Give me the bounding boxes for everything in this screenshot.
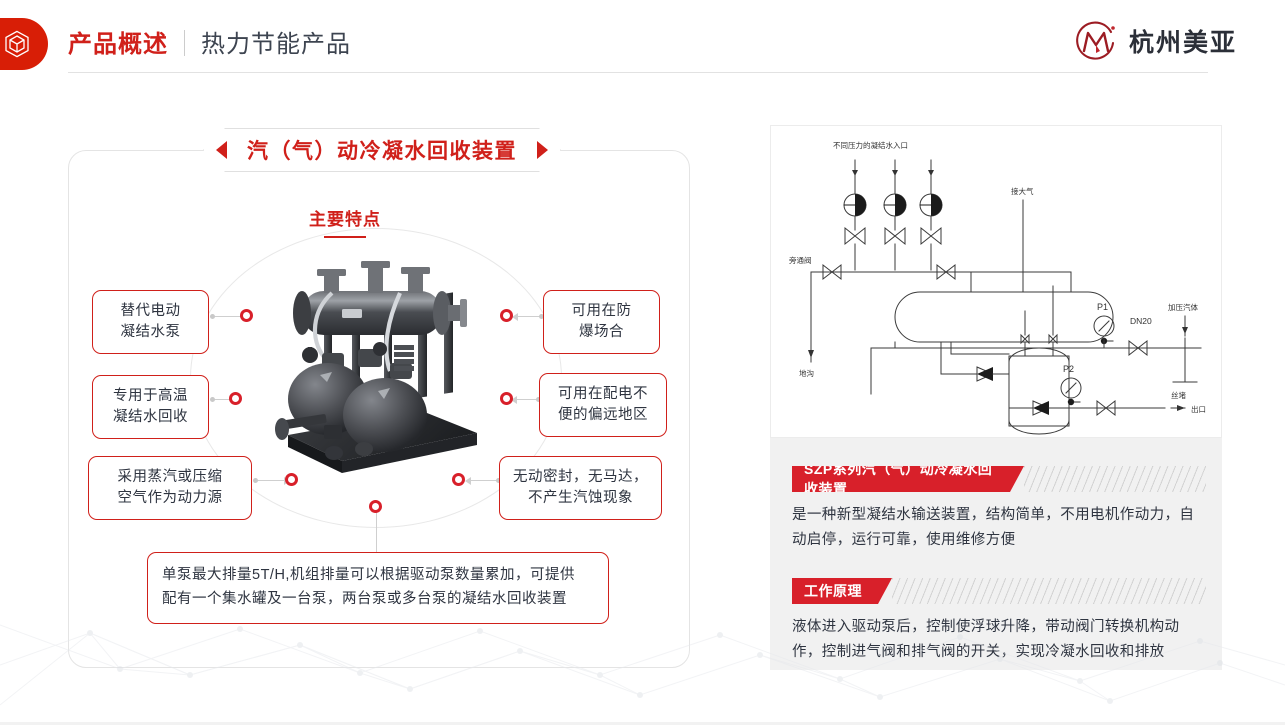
process-schematic-diagram: 不同压力的凝结水入口 — [770, 125, 1222, 438]
callout-right-1: 可用在防 爆场合 — [543, 290, 660, 354]
features-heading-text: 主要特点 — [0, 205, 690, 230]
leader-line-left-3 — [256, 480, 285, 481]
hatch-decoration-1 — [1024, 466, 1206, 492]
page-title: 产品概述 — [68, 24, 168, 59]
triangle-left-icon — [216, 141, 227, 159]
svg-text:P1: P1 — [1097, 302, 1108, 312]
section-ribbon: 汽（气）动冷凝水回收装置 — [203, 128, 561, 172]
meiya-m-logo-icon — [1073, 18, 1119, 64]
features-heading-underline — [324, 236, 366, 238]
callout-left-2: 专用于高温 凝结水回收 — [92, 375, 209, 439]
cube-hexagon-icon — [0, 18, 48, 70]
svg-text:不同压力的凝结水入口: 不同压力的凝结水入口 — [833, 140, 908, 150]
leader-line-right-1 — [517, 316, 541, 317]
hatch-decoration-2 — [892, 578, 1206, 604]
features-heading: 主要特点 — [0, 205, 690, 238]
node-right-2 — [500, 392, 513, 405]
svg-text:DN20: DN20 — [1130, 316, 1152, 326]
page-subtitle: 热力节能产品 — [201, 24, 351, 59]
node-left-3 — [285, 473, 298, 486]
svg-text:旁通阀: 旁通阀 — [789, 255, 812, 265]
node-bottom — [369, 500, 382, 513]
page-header: 产品概述 热力节能产品 杭州美亚 — [0, 0, 1285, 88]
svg-text:地沟: 地沟 — [799, 368, 814, 378]
section-tag-2: 工作原理 — [792, 578, 892, 604]
breadcrumb: 产品概述 热力节能产品 — [68, 24, 351, 59]
section-body-2: 液体进入驱动泵后，控制使浮球升降，带动阀门转换机构动作，控制进气阀和排气阀的开关… — [792, 615, 1206, 666]
section-product-intro: SZP系列汽（气）动冷凝水回收装置 是一种新型凝结水输送装置，结构简单，不用电机… — [792, 466, 1206, 554]
svg-text:加压汽体: 加压汽体 — [1168, 302, 1198, 312]
ribbon-title: 汽（气）动冷凝水回收装置 — [247, 135, 517, 165]
svg-text:P2: P2 — [1063, 364, 1074, 374]
node-left-2 — [229, 392, 242, 405]
title-divider — [184, 30, 185, 56]
brand-logo: 杭州美亚 — [1073, 18, 1237, 64]
callout-right-3: 无动密封，无马达， 不产生汽蚀现象 — [499, 456, 662, 520]
callout-bottom: 单泵最大排量5T/H,机组排量可以根据驱动泵数量累加，可提供 配有一个集水罐及一… — [147, 552, 609, 624]
triangle-right-icon — [537, 141, 548, 159]
section-body-1: 是一种新型凝结水输送装置，结构简单，不用电机作动力，自动启停，运行可靠，使用维修… — [792, 503, 1206, 554]
header-rule — [68, 72, 1208, 73]
svg-text:丝堵: 丝堵 — [1171, 390, 1187, 400]
node-left-1 — [240, 309, 253, 322]
svg-text:接大气: 接大气 — [1011, 186, 1034, 196]
leader-line-bottom — [376, 510, 377, 553]
detail-panel: 不同压力的凝结水入口 — [770, 125, 1222, 670]
slide-page: 产品概述 热力节能产品 杭州美亚 汽（气）动冷凝水回收装置 主要特点 — [0, 0, 1285, 725]
svg-text:出口: 出口 — [1191, 404, 1206, 414]
node-right-3 — [452, 473, 465, 486]
brand-name: 杭州美亚 — [1129, 23, 1237, 59]
callout-left-1: 替代电动 凝结水泵 — [92, 290, 209, 354]
section-tag-1: SZP系列汽（气）动冷凝水回收装置 — [792, 466, 1024, 492]
description-block: SZP系列汽（气）动冷凝水回收装置 是一种新型凝结水输送装置，结构简单，不用电机… — [770, 438, 1222, 670]
callout-right-2: 可用在配电不 便的偏远地区 — [539, 373, 667, 437]
section-working-principle: 工作原理 液体进入驱动泵后，控制使浮球升降，带动阀门转换机构动作，控制进气阀和排… — [792, 578, 1206, 666]
leader-line-right-2 — [516, 399, 538, 400]
node-right-1 — [500, 309, 513, 322]
leader-line-right-3 — [470, 480, 498, 481]
product-image — [272, 253, 487, 478]
callout-left-3: 采用蒸汽或压缩 空气作为动力源 — [88, 456, 252, 520]
